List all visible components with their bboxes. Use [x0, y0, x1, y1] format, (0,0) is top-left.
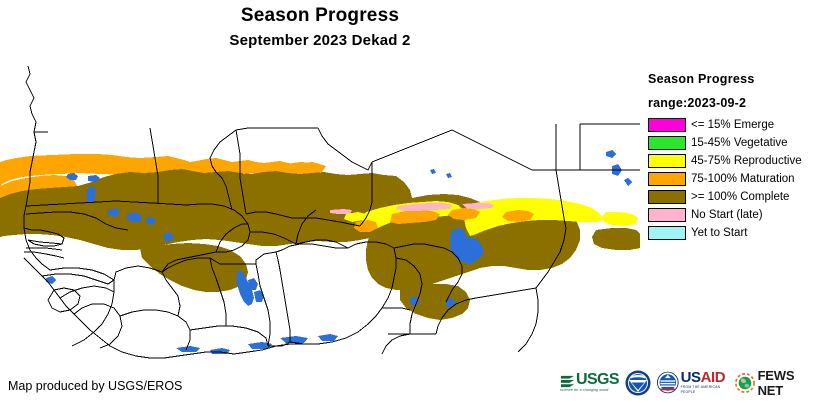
page-subtitle: September 2023 Dekad 2	[0, 30, 640, 52]
legend-title: Season Progress	[648, 72, 816, 86]
legend-panel: Season Progress range:2023-09-2 <= 15% E…	[648, 72, 816, 242]
fewsnet-logo[interactable]: FEWS NET	[735, 368, 812, 398]
legend-label-vegetative: 15-45% Vegetative	[691, 136, 788, 150]
usgs-logo[interactable]: USGS science for a changing world	[560, 368, 619, 398]
legend-swatch-complete	[648, 190, 686, 204]
legend-label-emerge: <= 15% Emerge	[691, 118, 774, 132]
legend-swatch-yet-to-start	[648, 226, 686, 240]
fewsnet-globe-icon	[735, 371, 755, 395]
legend-swatch-emerge	[648, 118, 686, 132]
legend-item-no-start[interactable]: No Start (late)	[648, 206, 816, 224]
usgs-wave-icon	[560, 373, 575, 388]
map-canvas[interactable]	[0, 62, 640, 362]
legend-item-emerge[interactable]: <= 15% Emerge	[648, 116, 816, 134]
legend-swatch-vegetative	[648, 136, 686, 150]
legend-item-reproductive[interactable]: 45-75% Reproductive	[648, 152, 816, 170]
map-svg	[0, 62, 640, 362]
legend-label-no-start: No Start (late)	[691, 208, 763, 222]
usgs-tagline: science for a changing world	[560, 388, 619, 393]
usaid-wordmark-us: US	[681, 369, 701, 386]
legend-label-yet-to-start: Yet to Start	[691, 226, 747, 240]
legend-item-complete[interactable]: >= 100% Complete	[648, 188, 816, 206]
legend-label-reproductive: 45-75% Reproductive	[691, 154, 802, 168]
usaid-tagline: FROM THE AMERICAN PEOPLE	[681, 385, 729, 395]
legend-swatch-reproductive	[648, 154, 686, 168]
title-block: Season Progress September 2023 Dekad 2	[0, 4, 640, 52]
map-page: Season Progress September 2023 Dekad 2	[0, 0, 816, 403]
partner-logos: USGS science for a changing world	[560, 366, 812, 399]
usgs-wordmark: USGS	[576, 372, 619, 388]
legend-entry-list: <= 15% Emerge 15-45% Vegetative 45-75% R…	[648, 116, 816, 242]
legend-label-maturation: 75-100% Maturation	[691, 172, 795, 186]
map-credit: Map produced by USGS/EROS	[8, 379, 182, 393]
legend-item-maturation[interactable]: 75-100% Maturation	[648, 170, 816, 188]
legend-swatch-maturation	[648, 172, 686, 186]
legend-range-label: range:2023-09-2	[648, 96, 816, 110]
usaid-wordmark-aid: AID	[701, 369, 726, 386]
legend-item-vegetative[interactable]: 15-45% Vegetative	[648, 134, 816, 152]
legend-label-complete: >= 100% Complete	[691, 190, 789, 204]
noaa-seal-icon	[625, 370, 651, 396]
noaa-logo[interactable]	[625, 368, 651, 398]
page-title: Season Progress	[0, 4, 640, 28]
legend-item-yet-to-start[interactable]: Yet to Start	[648, 224, 816, 242]
legend-swatch-no-start	[648, 208, 686, 222]
fewsnet-wordmark: FEWS NET	[758, 368, 812, 398]
usaid-logo[interactable]: USAID FROM THE AMERICAN PEOPLE	[657, 368, 729, 398]
usaid-seal-icon	[657, 370, 679, 395]
